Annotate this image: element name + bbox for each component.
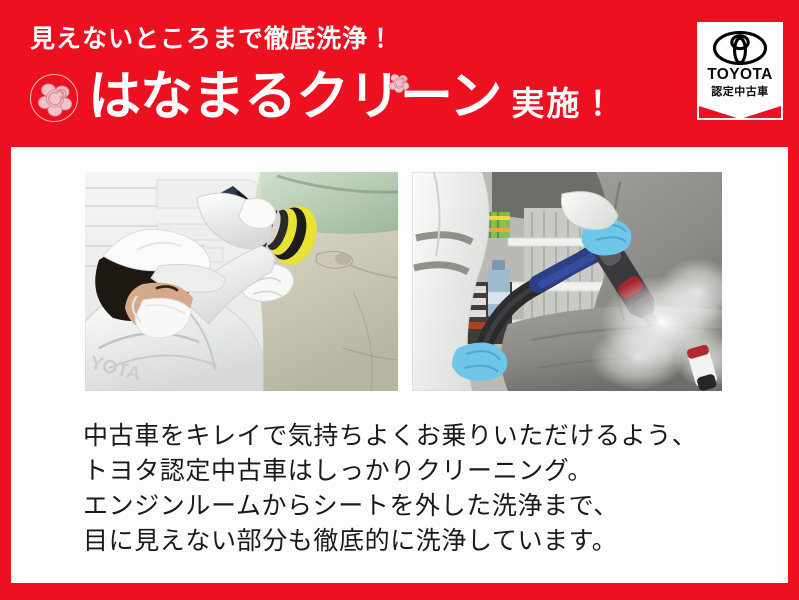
toyota-badge-chevron: [697, 97, 783, 119]
flower-accent-icon: [388, 72, 410, 94]
toyota-emblem-icon: [713, 31, 767, 65]
photo-gallery: YOTA: [85, 172, 722, 391]
flower-badge-icon: [28, 72, 82, 126]
content-panel: YOTA: [11, 147, 788, 583]
toyota-certification-label: 認定中古車: [711, 87, 769, 98]
toyota-wordmark: TOYOTA: [707, 67, 773, 83]
body-copy-line-2: トヨタ認定中古車はしっかりクリーニング。: [83, 454, 743, 489]
body-copy-line-3: エンジンルームからシートを外した洗浄まで、: [83, 489, 743, 524]
poster-header: 見えないところまで徹底洗浄！ はなまるクリーン 実施！: [0, 0, 799, 140]
brand-lockup: はなまるクリーン 実施！: [28, 68, 616, 130]
body-copy: 中古車をキレイで気持ちよくお乗りいただけるよう、 トヨタ認定中古車はしっかりクリ…: [83, 419, 743, 559]
action-label: 実施！: [511, 87, 616, 120]
brand-name: はなまるクリーン: [88, 70, 501, 123]
photo-polishing: YOTA: [85, 172, 398, 391]
body-copy-line-1: 中古車をキレイで気持ちよくお乗りいただけるよう、: [83, 419, 743, 454]
photo-steam-cleaning: [412, 172, 722, 391]
header-headline: 見えないところまで徹底洗浄！: [30, 27, 394, 52]
hanamaru-clean-poster: 見えないところまで徹底洗浄！ はなまるクリーン 実施！: [0, 0, 799, 600]
toyota-certified-badge: TOYOTA 認定中古車: [697, 22, 783, 120]
body-copy-line-4: 目に見えない部分も徹底的に洗浄しています。: [83, 524, 743, 559]
